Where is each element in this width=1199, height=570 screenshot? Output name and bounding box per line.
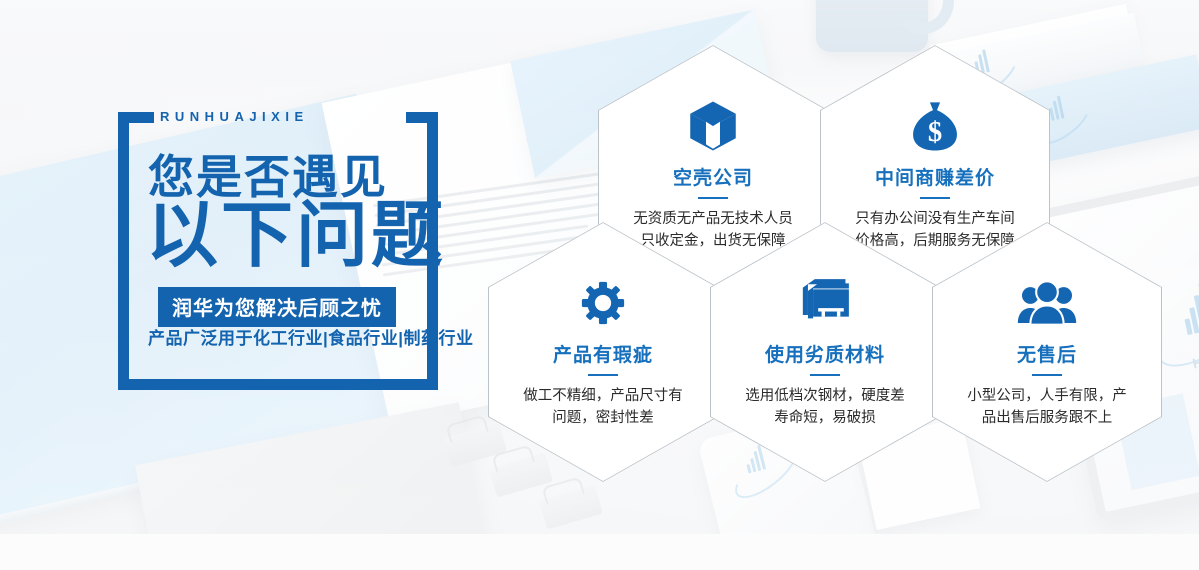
- hex-card-description: 只有办公间没有生产车间 价格高，后期服务无保障: [840, 208, 1030, 253]
- hex-title-underline: [920, 197, 950, 199]
- hex-card-title: 产品有瑕疵: [553, 340, 653, 367]
- hex-title-underline: [810, 374, 840, 376]
- cube-box-icon: [685, 97, 741, 155]
- hex-card-title: 空壳公司: [673, 163, 753, 190]
- hexagon-card-grid: 空壳公司 无资质无产品无技术人员 只收定金，出货无保障 $: [0, 0, 1199, 570]
- hex-desc-line: 无资质无产品无技术人员: [618, 208, 808, 230]
- hex-desc-line: 品出售后服务跟不上: [952, 407, 1142, 429]
- hex-card-description: 无资质无产品无技术人员 只收定金，出货无保障: [618, 208, 808, 253]
- hex-card-description: 小型公司，人手有限，产 品出售后服务跟不上: [952, 385, 1142, 430]
- hex-card-title: 无售后: [1017, 340, 1077, 367]
- hex-card-title: 中间商赚差价: [875, 163, 995, 190]
- hex-card-description: 做工不精细，产品尺寸有 问题，密封性差: [508, 385, 698, 430]
- hex-desc-line: 小型公司，人手有限，产: [952, 385, 1142, 407]
- hex-card-title: 使用劣质材料: [765, 340, 885, 367]
- svg-text:$: $: [928, 116, 942, 148]
- hex-title-underline: [698, 197, 728, 199]
- hex-title-underline: [588, 374, 618, 376]
- stacked-plates-icon: [796, 274, 854, 332]
- hex-desc-line: 只有办公间没有生产车间: [840, 208, 1030, 230]
- hex-desc-line: 问题，密封性差: [508, 407, 698, 429]
- users-group-icon: [1017, 274, 1077, 332]
- hex-title-underline: [1032, 374, 1062, 376]
- money-bag-icon: $: [908, 97, 962, 155]
- hex-desc-line: 选用低档次钢材，硬度差: [730, 385, 920, 407]
- hex-desc-line: 寿命短，易破损: [730, 407, 920, 429]
- gear-icon: [577, 274, 629, 332]
- hex-desc-line: 做工不精细，产品尺寸有: [508, 385, 698, 407]
- hex-card-description: 选用低档次钢材，硬度差 寿命短，易破损: [730, 385, 920, 430]
- promo-banner: HGTFBD: [0, 0, 1199, 570]
